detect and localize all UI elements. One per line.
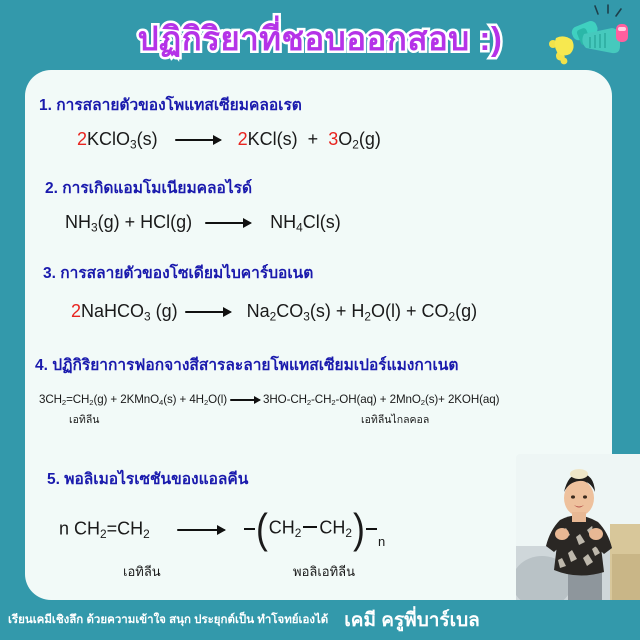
reaction-arrow-icon [205, 222, 251, 224]
reaction-number-4: 4. [35, 357, 48, 374]
reaction-equation-4: 3CH2=CH2(g) + 2KMnO4(s) + 4H2O(l)3HO-CH2… [39, 393, 612, 407]
reaction-item-4: 4. ปฏิกิริยาการฟอกจางสีสารละลายโพแทสเซีย… [25, 352, 612, 429]
reaction-title-5: พอลิเมอไรเซชันของแอลคีน [64, 471, 248, 488]
reaction-arrow-icon [175, 139, 221, 141]
footer: เรียนเคมีเชิงลึก ด้วยความเข้าใจ สนุก ประ… [0, 600, 640, 640]
reaction-number-5: 5. [47, 471, 60, 488]
coefficient-red: 3 [328, 129, 338, 149]
reactant-label-ethylene: เอทิลีน [69, 411, 99, 428]
monomer-label-ethylene: เอทิลีน [123, 561, 161, 582]
reaction-heading-4: 4. ปฏิกิริยาการฟอกจางสีสารละลายโพแทสเซีย… [35, 352, 612, 377]
bond-right-tick [366, 528, 377, 530]
reaction-title-2: การเกิดแอมโมเนียมคลอไรด์ [62, 180, 252, 197]
reaction-title-1: การสลายตัวของโพแทสเซียมคลอเรต [56, 97, 302, 114]
product-label-ethylene-glycol: เอทิลีนไกลคอล [361, 411, 429, 428]
reaction-item-2: 2. การเกิดแอมโมเนียมคลอไรด์ NH3(g) + HCl… [25, 175, 612, 234]
coefficient-red: 2 [77, 129, 87, 149]
footer-brand: เคมี ครูพี่บาร์เบล [344, 605, 480, 635]
reaction-arrow-icon [177, 529, 225, 531]
footer-tagline: เรียนเคมีเชิงลึก ด้วยความเข้าใจ สนุก ประ… [8, 611, 328, 629]
reaction-item-1: 1. การสลายตัวของโพแทสเซียมคลอเรต 2KClO3(… [25, 92, 612, 151]
reaction-title-3: การสลายตัวของโซเดียมไบคาร์บอเนต [60, 265, 313, 282]
reaction-arrow-icon [185, 311, 231, 313]
reaction-item-3: 3. การสลายตัวของโซเดียมไบคาร์บอเนต 2NaHC… [25, 260, 612, 323]
instructor-photo [516, 454, 640, 604]
repeat-subscript: n [378, 534, 385, 549]
monomer-count: n [59, 519, 69, 539]
reaction-heading-3: 3. การสลายตัวของโซเดียมไบคาร์บอเนต [43, 260, 612, 285]
bond-line [303, 526, 317, 528]
reaction-equation-1: 2KClO3(s) 2KCl(s) + 3O2(g) [77, 129, 612, 151]
polymer-label-polyethylene: พอลิเอทิลีน [293, 561, 355, 582]
coefficient-red: 2 [238, 129, 248, 149]
infographic-page: { "header": { "title": "ปฏิกิริยาที่ชอบอ… [0, 0, 640, 640]
bond-left-tick [244, 528, 255, 530]
reaction-title-4: ปฏิกิริยาการฟอกจางสีสารละลายโพแทสเซียมเป… [52, 357, 458, 374]
reaction-number-1: 1. [39, 97, 52, 114]
coefficient-red: 2 [71, 301, 81, 321]
bracket-open-icon: ( [256, 511, 268, 547]
reaction-equation-2: NH3(g) + HCl(g) NH4Cl(s) [65, 212, 612, 234]
reaction-number-3: 3. [43, 265, 56, 282]
reaction-equation-3: 2NaHCO3 (g) Na2CO3(s) + H2O(l) + CO2(g) [71, 301, 612, 323]
spray-bottle-hand-icon [540, 4, 632, 68]
polymer-repeat-unit: (CH2CH2)n [244, 511, 385, 549]
reaction-heading-2: 2. การเกิดแอมโมเนียมคลอไรด์ [45, 175, 612, 200]
reaction-heading-1: 1. การสลายตัวของโพแทสเซียมคลอเรต [39, 92, 612, 117]
bracket-close-icon: ) [353, 511, 365, 547]
reaction-number-2: 2. [45, 180, 58, 197]
reaction-arrow-icon [230, 399, 260, 401]
header: ปฏิกิริยาที่ชอบออกสอบ :) [0, 0, 640, 68]
